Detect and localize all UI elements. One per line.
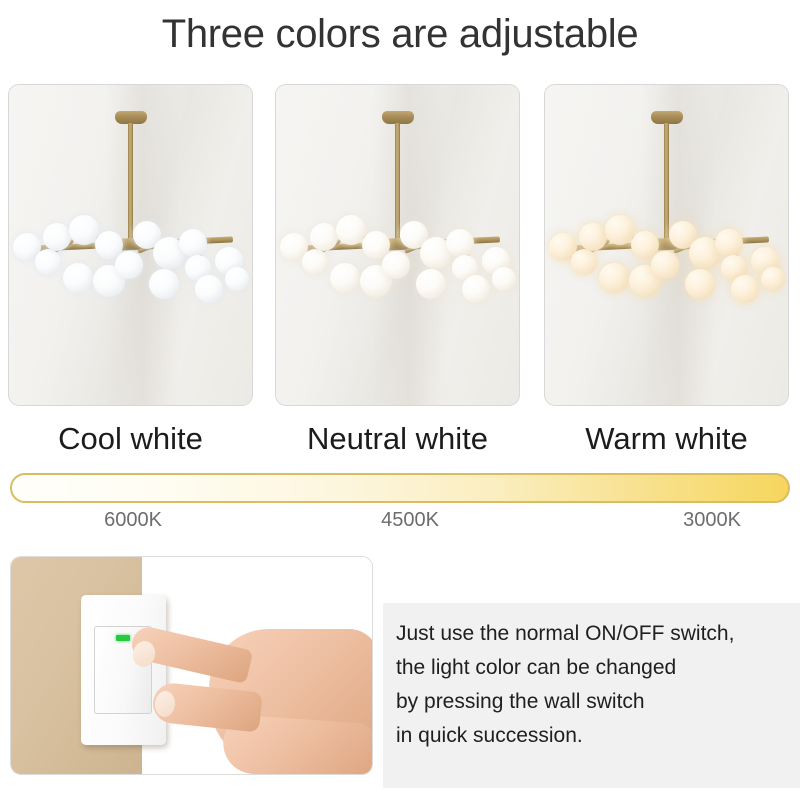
chandelier-cool-white [9, 85, 252, 405]
instruction-line-1: Just use the normal ON/OFF switch, [396, 617, 796, 651]
globe [579, 223, 607, 251]
instruction-line-3: by pressing the wall switch [396, 685, 796, 719]
globe [43, 223, 71, 251]
chandelier-neutral-white [276, 85, 519, 405]
page-title: Three colors are adjustable [0, 8, 800, 60]
photo-warm-white [544, 84, 789, 406]
hand-pressing-switch [131, 609, 373, 775]
globe [685, 269, 715, 299]
photo-wall-switch [10, 556, 373, 775]
instruction-text: Just use the normal ON/OFF switch, the l… [396, 617, 796, 753]
kelvin-label-4500k: 4500K [330, 506, 490, 534]
globe [63, 263, 93, 293]
globe [310, 223, 338, 251]
kelvin-label-row: 6000K 4500K 3000K [0, 506, 800, 534]
caption-neutral-white: Neutral white [275, 418, 520, 460]
instruction-line-2: the light color can be changed [396, 651, 796, 685]
globe [651, 251, 679, 279]
globe [179, 229, 207, 257]
kelvin-label-6000k: 6000K [53, 506, 213, 534]
globe [416, 269, 446, 299]
product-infographic: Three colors are adjustable [0, 0, 800, 800]
photo-neutral-white [275, 84, 520, 406]
caption-warm-white: Warm white [544, 418, 789, 460]
downrod [664, 123, 669, 245]
globe [715, 229, 743, 257]
globe [35, 249, 61, 275]
globe [446, 229, 474, 257]
downrod [128, 123, 133, 245]
globe [462, 275, 490, 303]
kelvin-label-3000k: 3000K [632, 506, 792, 534]
globe [330, 263, 360, 293]
chandelier-warm-white [545, 85, 788, 405]
globe [761, 267, 785, 291]
globe [225, 267, 249, 291]
color-temperature-bar [10, 473, 790, 503]
globe [599, 263, 629, 293]
caption-cool-white: Cool white [8, 418, 253, 460]
photo-cool-white [8, 84, 253, 406]
color-photo-row [8, 84, 792, 406]
globe [195, 275, 223, 303]
globe [731, 275, 759, 303]
globe [149, 269, 179, 299]
instruction-line-4: in quick succession. [396, 719, 796, 753]
globe [382, 251, 410, 279]
downrod [395, 123, 400, 245]
globe [302, 249, 328, 275]
globe [115, 251, 143, 279]
globe [571, 249, 597, 275]
globe [492, 267, 516, 291]
led-indicator-icon [116, 635, 130, 641]
